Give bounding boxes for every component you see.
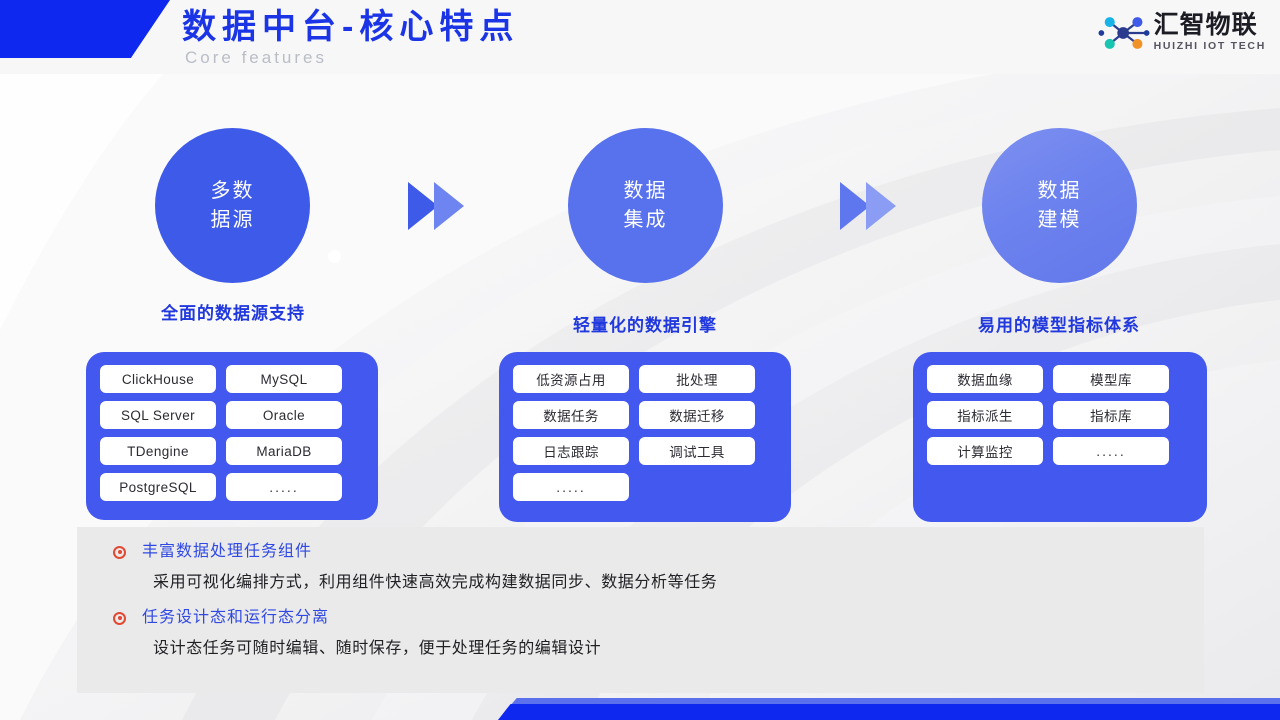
flow-circle-label-line1: 多数 — [211, 177, 255, 206]
tag-item[interactable]: 数据迁移 — [639, 401, 755, 429]
flow-circle-step-2: 数据 集成 — [568, 128, 723, 283]
tag-item[interactable]: 低资源占用 — [513, 365, 629, 393]
tag-item[interactable]: ClickHouse — [100, 365, 216, 393]
tag-item[interactable]: MariaDB — [226, 437, 342, 465]
tag-item[interactable]: 日志跟踪 — [513, 437, 629, 465]
feature-note-header: 丰富数据处理任务组件 — [77, 541, 1204, 563]
feature-notes-panel: 丰富数据处理任务组件 采用可视化编排方式，利用组件快速高效完成构建数据同步、数据… — [77, 527, 1204, 693]
feature-note-title: 丰富数据处理任务组件 — [142, 541, 312, 563]
tag-item[interactable]: 数据血缘 — [927, 365, 1043, 393]
tag-item[interactable]: 数据任务 — [513, 401, 629, 429]
brand-name-en: HUIZHI IOT TECH — [1154, 39, 1266, 54]
tag-item-more[interactable]: ..... — [226, 473, 342, 501]
flow-circle-label-line2: 据源 — [211, 206, 255, 235]
flow-circle-step-1: 多数 据源 — [155, 128, 310, 283]
tag-item[interactable]: Oracle — [226, 401, 342, 429]
tag-item[interactable]: PostgreSQL — [100, 473, 216, 501]
feature-note-item: 丰富数据处理任务组件 采用可视化编排方式，利用组件快速高效完成构建数据同步、数据… — [77, 541, 1204, 595]
footer-accent-band — [498, 704, 1280, 720]
tag-item[interactable]: SQL Server — [100, 401, 216, 429]
tag-item[interactable]: 指标库 — [1053, 401, 1169, 429]
feature-note-body: 设计态任务可随时编辑、随时保存，便于处理任务的编辑设计 — [77, 637, 1204, 661]
feature-note-body: 采用可视化编排方式，利用组件快速高效完成构建数据同步、数据分析等任务 — [77, 571, 1204, 595]
flow-caption-step-2: 轻量化的数据引擎 — [497, 311, 793, 336]
slide-canvas: 数据中台-核心特点 Core features 汇智物联 HUIZHI IOT … — [0, 0, 1280, 720]
tag-item[interactable]: MySQL — [226, 365, 342, 393]
tag-item[interactable]: 计算监控 — [927, 437, 1043, 465]
molecule-icon — [1098, 12, 1150, 54]
radio-dot-icon — [113, 612, 126, 625]
decorative-dot — [328, 250, 341, 263]
tag-panel-step-3: 数据血缘 模型库 指标派生 指标库 计算监控 ..... — [913, 352, 1207, 522]
tag-panel-step-1: ClickHouse MySQL SQL Server Oracle TDeng… — [86, 352, 378, 520]
flow-caption-step-1: 全面的数据源支持 — [85, 299, 381, 324]
tag-item[interactable]: 调试工具 — [639, 437, 755, 465]
flow-circle-label-line1: 数据 — [1038, 177, 1082, 206]
brand-logo: 汇智物联 HUIZHI IOT TECH — [1098, 12, 1266, 54]
flow-circle-label-line1: 数据 — [624, 177, 668, 206]
tag-item[interactable]: 批处理 — [639, 365, 755, 393]
feature-note-title: 任务设计态和运行态分离 — [142, 607, 329, 629]
tag-item[interactable]: TDengine — [100, 437, 216, 465]
tag-item-more[interactable]: ..... — [513, 473, 629, 501]
double-chevron-right-icon — [408, 178, 470, 234]
page-title-group: 数据中台-核心特点 Core features — [182, 5, 519, 69]
double-chevron-right-icon — [840, 178, 902, 234]
brand-name-cn: 汇智物联 — [1154, 12, 1266, 38]
flow-circle-step-3: 数据 建模 — [982, 128, 1137, 283]
page-subtitle: Core features — [185, 47, 519, 69]
tag-item[interactable]: 指标派生 — [927, 401, 1043, 429]
tag-item-more[interactable]: ..... — [1053, 437, 1169, 465]
tag-panel-step-2: 低资源占用 批处理 数据任务 数据迁移 日志跟踪 调试工具 ..... — [499, 352, 791, 522]
page-title: 数据中台-核心特点 — [182, 5, 519, 49]
flow-circle-label-line2: 集成 — [624, 206, 668, 235]
flow-circle-label-line2: 建模 — [1038, 206, 1082, 235]
tag-item[interactable]: 模型库 — [1053, 365, 1169, 393]
brand-logo-text: 汇智物联 HUIZHI IOT TECH — [1154, 12, 1266, 54]
radio-dot-icon — [113, 546, 126, 559]
flow-caption-step-3: 易用的模型指标体系 — [910, 311, 1208, 336]
feature-note-header: 任务设计态和运行态分离 — [77, 607, 1204, 629]
feature-note-item: 任务设计态和运行态分离 设计态任务可随时编辑、随时保存，便于处理任务的编辑设计 — [77, 607, 1204, 661]
